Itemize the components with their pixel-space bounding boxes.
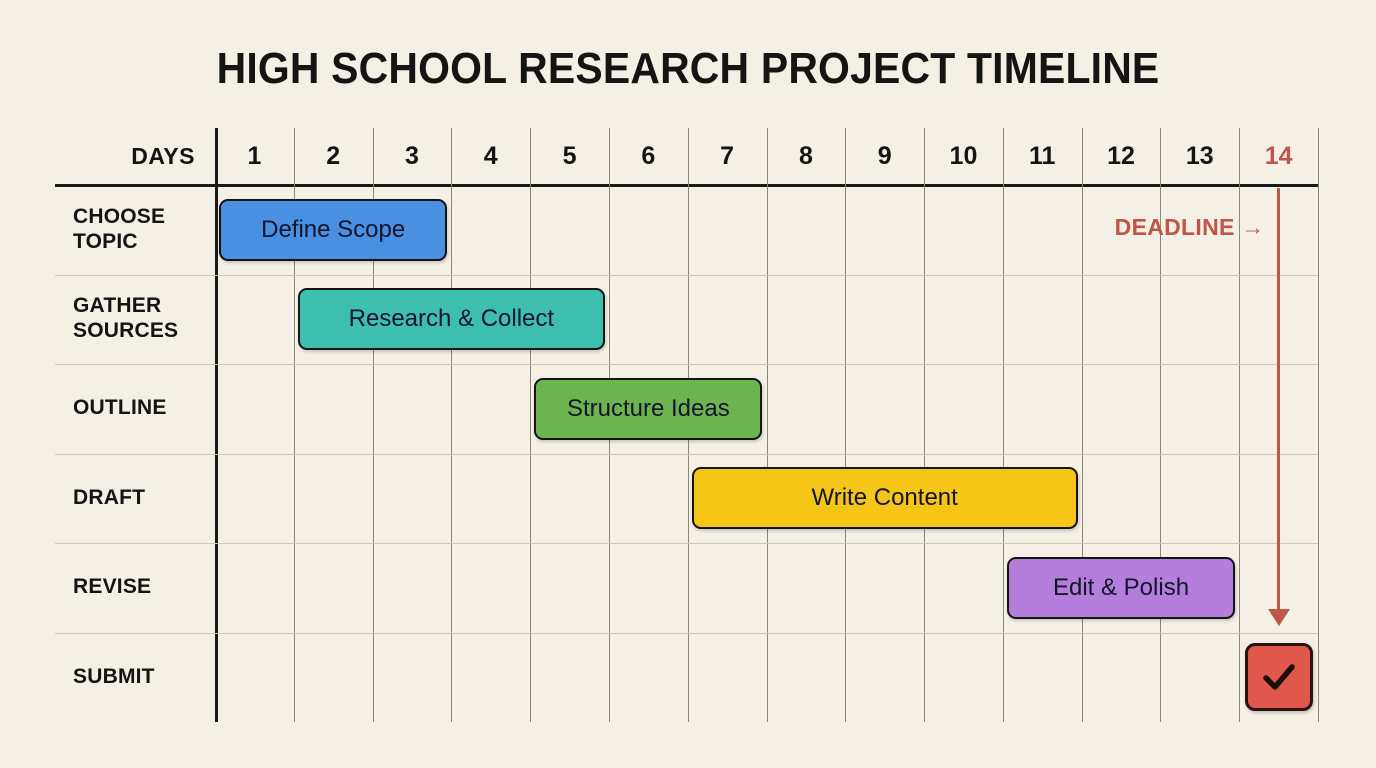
day-tick-14: 14 xyxy=(1239,128,1318,185)
day-axis-header: DAYS 1234567891011121314 xyxy=(55,128,1318,185)
row-separator-3 xyxy=(55,454,1318,455)
day-tick-10: 10 xyxy=(924,128,1003,185)
day-tick-4: 4 xyxy=(451,128,530,185)
row-label-submit: SUBMIT xyxy=(73,633,213,723)
row-separator-1 xyxy=(55,275,1318,276)
day-tick-3: 3 xyxy=(373,128,452,185)
task-bar-define-scope[interactable]: Define Scope xyxy=(219,199,447,261)
row-label-gather-sources: GATHER SOURCES xyxy=(73,275,213,365)
day-tick-8: 8 xyxy=(767,128,846,185)
task-bar-write-content[interactable]: Write Content xyxy=(692,467,1078,529)
row-separator-4 xyxy=(55,543,1318,544)
day-tick-7: 7 xyxy=(688,128,767,185)
task-bar-research-collect[interactable]: Research & Collect xyxy=(298,288,605,350)
day-tick-1: 1 xyxy=(215,128,294,185)
timeline-grid: DAYS 1234567891011121314 CHOOSE TOPICGAT… xyxy=(55,128,1318,722)
row-separator-5 xyxy=(55,633,1318,634)
row-label-revise: REVISE xyxy=(73,543,213,633)
task-bar-edit-polish[interactable]: Edit & Polish xyxy=(1007,557,1235,619)
column-separator-14 xyxy=(1318,128,1319,722)
page-title: HIGH SCHOOL RESEARCH PROJECT TIMELINE xyxy=(48,44,1328,94)
day-tick-11: 11 xyxy=(1003,128,1082,185)
days-axis-label: DAYS xyxy=(55,128,205,185)
day-tick-9: 9 xyxy=(845,128,924,185)
task-bar-structure-ideas[interactable]: Structure Ideas xyxy=(534,378,762,440)
day-tick-12: 12 xyxy=(1082,128,1161,185)
check-icon xyxy=(1257,655,1301,699)
row-label-draft: DRAFT xyxy=(73,454,213,544)
row-separator-2 xyxy=(55,364,1318,365)
header-rule xyxy=(55,184,1318,187)
day-tick-6: 6 xyxy=(609,128,688,185)
day-tick-2: 2 xyxy=(294,128,373,185)
deadline-arrowhead-icon xyxy=(1268,609,1290,626)
deadline-vertical-line xyxy=(1277,188,1280,609)
deadline-label: DEADLINE → xyxy=(1115,214,1265,241)
gantt-chart-canvas: HIGH SCHOOL RESEARCH PROJECT TIMELINE DA… xyxy=(0,0,1376,768)
day-tick-13: 13 xyxy=(1160,128,1239,185)
day-tick-5: 5 xyxy=(530,128,609,185)
row-label-choose-topic: CHOOSE TOPIC xyxy=(73,185,213,275)
row-label-outline: OUTLINE xyxy=(73,364,213,454)
submit-checkbox[interactable] xyxy=(1245,643,1313,711)
